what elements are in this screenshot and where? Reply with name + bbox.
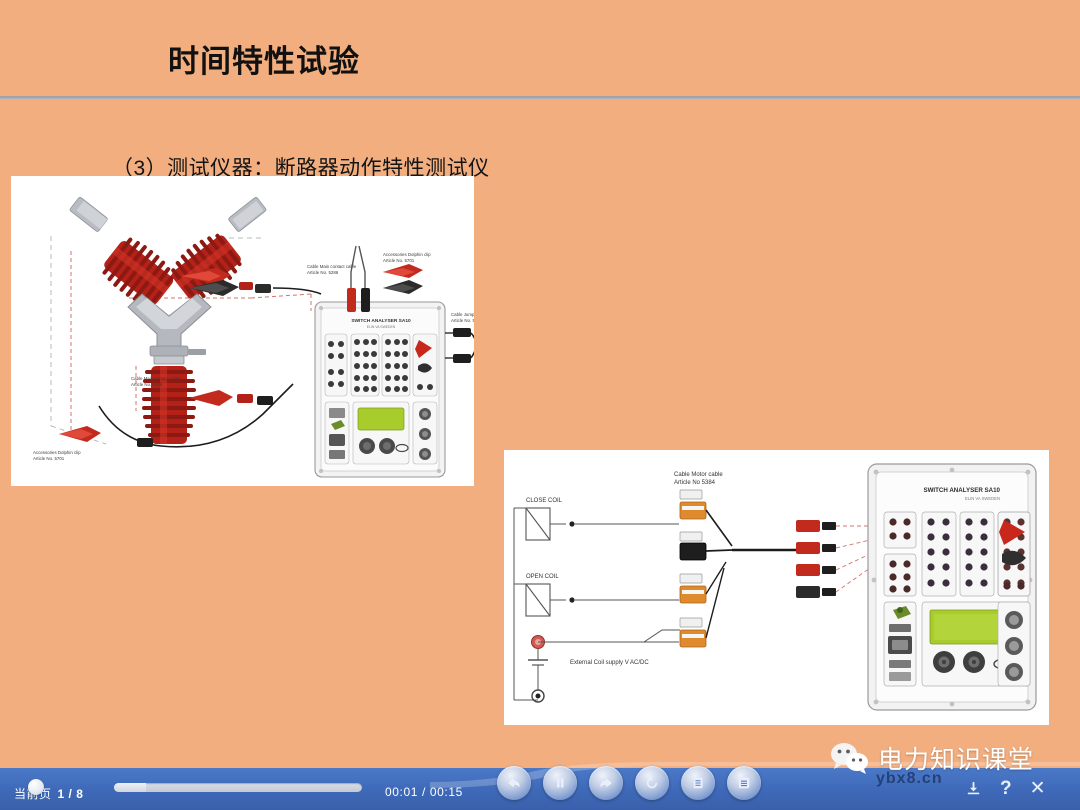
figure-one-device-sublabel: ELIN VA SWEDEN [367, 325, 396, 329]
playback-controls [497, 766, 761, 800]
header-divider [0, 95, 1080, 99]
annotation-b1: CLOSE COIL [526, 498, 563, 504]
menu-icon [735, 774, 753, 792]
menu-button[interactable] [727, 766, 761, 800]
pause-icon [551, 774, 569, 792]
page-indicator-value: 1 / 8 [58, 787, 84, 801]
figure-one-device-label: SWITCH ANALYSER SA10 [351, 318, 411, 324]
page-indicator: 当前页1 / 8 [14, 785, 83, 802]
annotation-a4-line2: Article No. 5286 [131, 382, 163, 387]
slide-header: 时间特性试验 [0, 0, 1080, 95]
annotation-b4-line2: Article No 5384 [674, 480, 716, 486]
notes-button[interactable] [681, 766, 715, 800]
annotation-b4-line1: Cable Motor cable [674, 472, 723, 478]
replay-icon [643, 774, 661, 792]
close-button[interactable]: ✕ [1030, 779, 1046, 798]
site-watermark: ybx8.cn [876, 770, 943, 788]
pause-button[interactable] [543, 766, 577, 800]
replay-button[interactable] [635, 766, 669, 800]
seek-bar-fill [114, 783, 146, 792]
annotation-a4-line1: Cable Main contact cable [131, 376, 181, 381]
annotation-a1-line2: Article No. 5701 [383, 258, 415, 263]
annotation-a5-line1: Accessories Dolphin clip [33, 450, 81, 455]
figure-two-device-sublabel: ELIN VA SWEDEN [965, 496, 1000, 501]
seek-bar-thumb[interactable] [28, 779, 44, 795]
annotation-b3: External Coil supply V AC/DC [570, 660, 649, 666]
annotation-b2: OPEN COIL [526, 574, 559, 580]
forward-button[interactable] [589, 766, 623, 800]
annotation-a1-line1: Accessories Dolphin clip [383, 252, 431, 257]
annotation-a3-line2: Article No. 5386 [451, 318, 474, 323]
seek-bar[interactable] [114, 783, 362, 792]
download-button[interactable] [965, 780, 982, 797]
annotation-a2-line2: Article No. 5286 [307, 270, 339, 275]
arrow-back-icon [505, 774, 523, 792]
help-button[interactable]: ? [1000, 779, 1012, 798]
rewind-button[interactable] [497, 766, 531, 800]
annotation-a3-line1: Cable Jumper cable [451, 312, 474, 317]
figure-coil-wiring-diagram: CLOSE COIL OPEN COIL External Coil suppl… [504, 450, 1049, 725]
annotation-a2-line1: Cable Main contact cable [307, 264, 357, 269]
wechat-icon [828, 741, 872, 775]
annotation-a5-line2: Article No. 5701 [33, 456, 65, 461]
arrow-forward-icon [597, 774, 615, 792]
brand-watermark: 电力知识课堂 [828, 735, 1080, 781]
utility-controls: ? ✕ [965, 779, 1046, 798]
download-icon [965, 780, 982, 797]
list-icon [689, 774, 707, 792]
figure-bushing-wiring-diagram: Accessories Dolphin clip Article No. 570… [11, 176, 474, 486]
page-title: 时间特性试验 [168, 36, 360, 81]
figure-one-svg: Accessories Dolphin clip Article No. 570… [11, 176, 474, 486]
figure-two-svg: CLOSE COIL OPEN COIL External Coil suppl… [504, 450, 1049, 725]
time-display: 00:01 / 00:15 [385, 785, 463, 799]
figure-two-device-label: SWITCH ANALYSER SA10 [923, 487, 1000, 494]
